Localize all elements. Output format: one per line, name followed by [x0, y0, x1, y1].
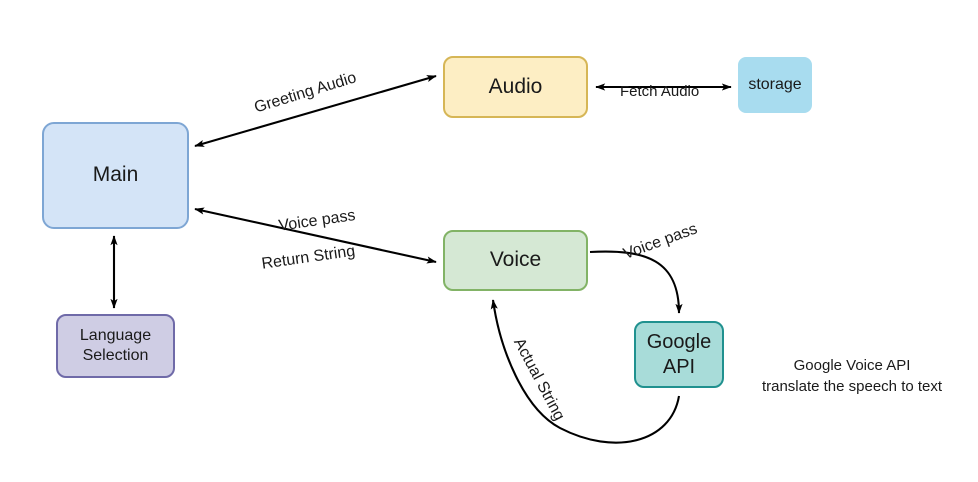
node-language-selection-label: Language Selection	[80, 326, 151, 366]
node-storage[interactable]: storage	[738, 57, 812, 113]
note-google-voice-api: Google Voice API translate the speech to…	[742, 336, 962, 397]
node-main-label: Main	[93, 162, 139, 188]
node-voice[interactable]: Voice	[443, 230, 588, 291]
edge-label-fetch-audio-text: Fetch Audio	[620, 83, 699, 100]
edge-label-voice-pass-api-text: Voice pass	[621, 220, 700, 262]
note-google-voice-api-text: Google Voice API translate the speech to…	[762, 357, 942, 394]
edge-label-voice-pass-api: Voice pass	[615, 204, 700, 264]
edge-label-greeting-audio-text: Greeting Audio	[252, 69, 358, 116]
node-google-api-label: Google API	[647, 330, 712, 380]
edge-label-return-string: Return String	[258, 225, 356, 274]
node-audio-label: Audio	[489, 74, 543, 100]
diagram-canvas: Main Audio storage Voice Google API Lang…	[0, 0, 978, 482]
edge-label-fetch-audio: Fetch Audio	[620, 66, 699, 100]
node-google-api[interactable]: Google API	[634, 321, 724, 388]
node-voice-label: Voice	[490, 247, 541, 273]
node-language-selection[interactable]: Language Selection	[56, 314, 175, 378]
edge-label-greeting-audio: Greeting Audio	[247, 52, 359, 117]
node-main[interactable]: Main	[42, 122, 189, 229]
edge-label-actual-string-text: Actual String	[510, 335, 568, 423]
node-audio[interactable]: Audio	[443, 56, 588, 118]
edge-label-actual-string: Actual String	[509, 327, 583, 424]
edge-label-return-string-text: Return String	[261, 243, 357, 273]
node-storage-label: storage	[748, 75, 801, 95]
